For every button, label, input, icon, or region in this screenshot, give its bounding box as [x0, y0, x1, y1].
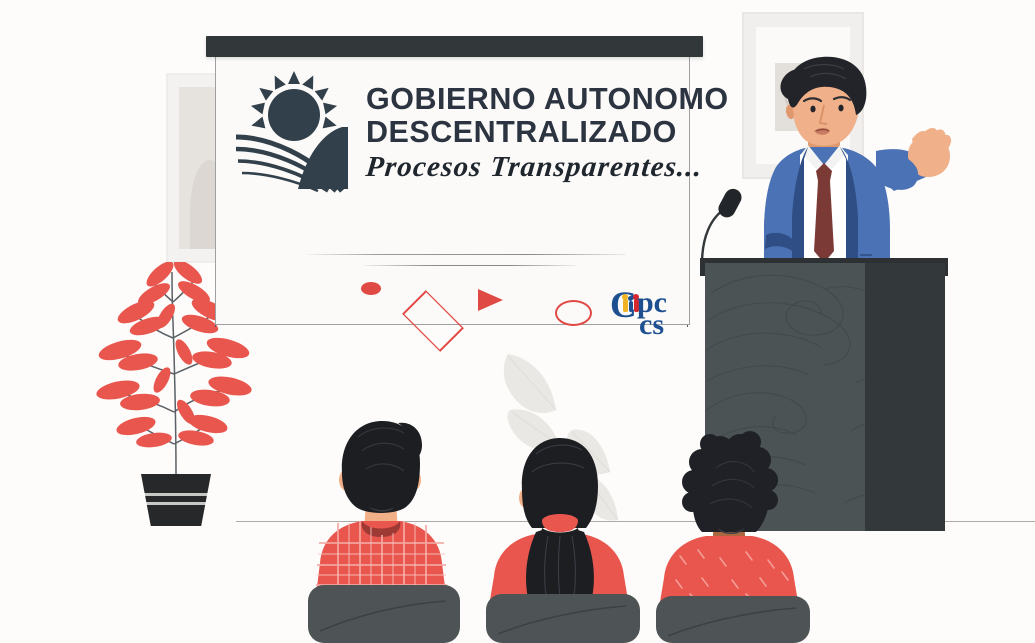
screen-headline: GOBIERNO AUTONOMO DESCENTRALIZADO Proces…: [366, 83, 686, 184]
microphone-head: [715, 186, 744, 220]
figure-blue: [629, 301, 633, 312]
chair: [486, 594, 640, 643]
podium-microphone: [692, 186, 762, 266]
red-triangle-shape: [478, 289, 503, 311]
headline-line-2: DESCENTRALIZADO: [366, 116, 686, 149]
red-ellipse-shape: [555, 300, 592, 326]
pot-band: [144, 493, 208, 496]
screen-top-bar[interactable]: [206, 36, 703, 57]
divider-line: [364, 265, 576, 266]
audience-member-left: [300, 415, 490, 643]
headline-tagline: Procesos Transparentes...: [364, 151, 687, 184]
cpccs-logo: C pc cs: [610, 285, 682, 343]
cpccs-letters-cs: cs: [639, 310, 664, 340]
microphone-stem: [702, 208, 726, 264]
screen-canvas: GOBIERNO AUTONOMO DESCENTRALIZADO Proces…: [215, 57, 690, 325]
arc-lines-icon: [234, 121, 354, 193]
chair: [656, 596, 810, 643]
audience-member-center: [480, 428, 660, 643]
projection-screen[interactable]: GOBIERNO AUTONOMO DESCENTRALIZADO Proces…: [206, 36, 703, 328]
headline-line-1: GOBIERNO AUTONOMO: [366, 83, 686, 116]
presentation-scene: GOBIERNO AUTONOMO DESCENTRALIZADO Proces…: [0, 0, 1035, 643]
chair: [308, 585, 460, 643]
plant-pot: [141, 474, 211, 526]
figure-yellow: [623, 299, 628, 312]
gad-logo: [236, 77, 356, 182]
lectern-side: [865, 263, 945, 531]
pot-band: [146, 502, 206, 505]
audience-member-right: [650, 428, 830, 643]
divider-line: [308, 254, 626, 255]
red-dot-shape: [361, 282, 381, 295]
